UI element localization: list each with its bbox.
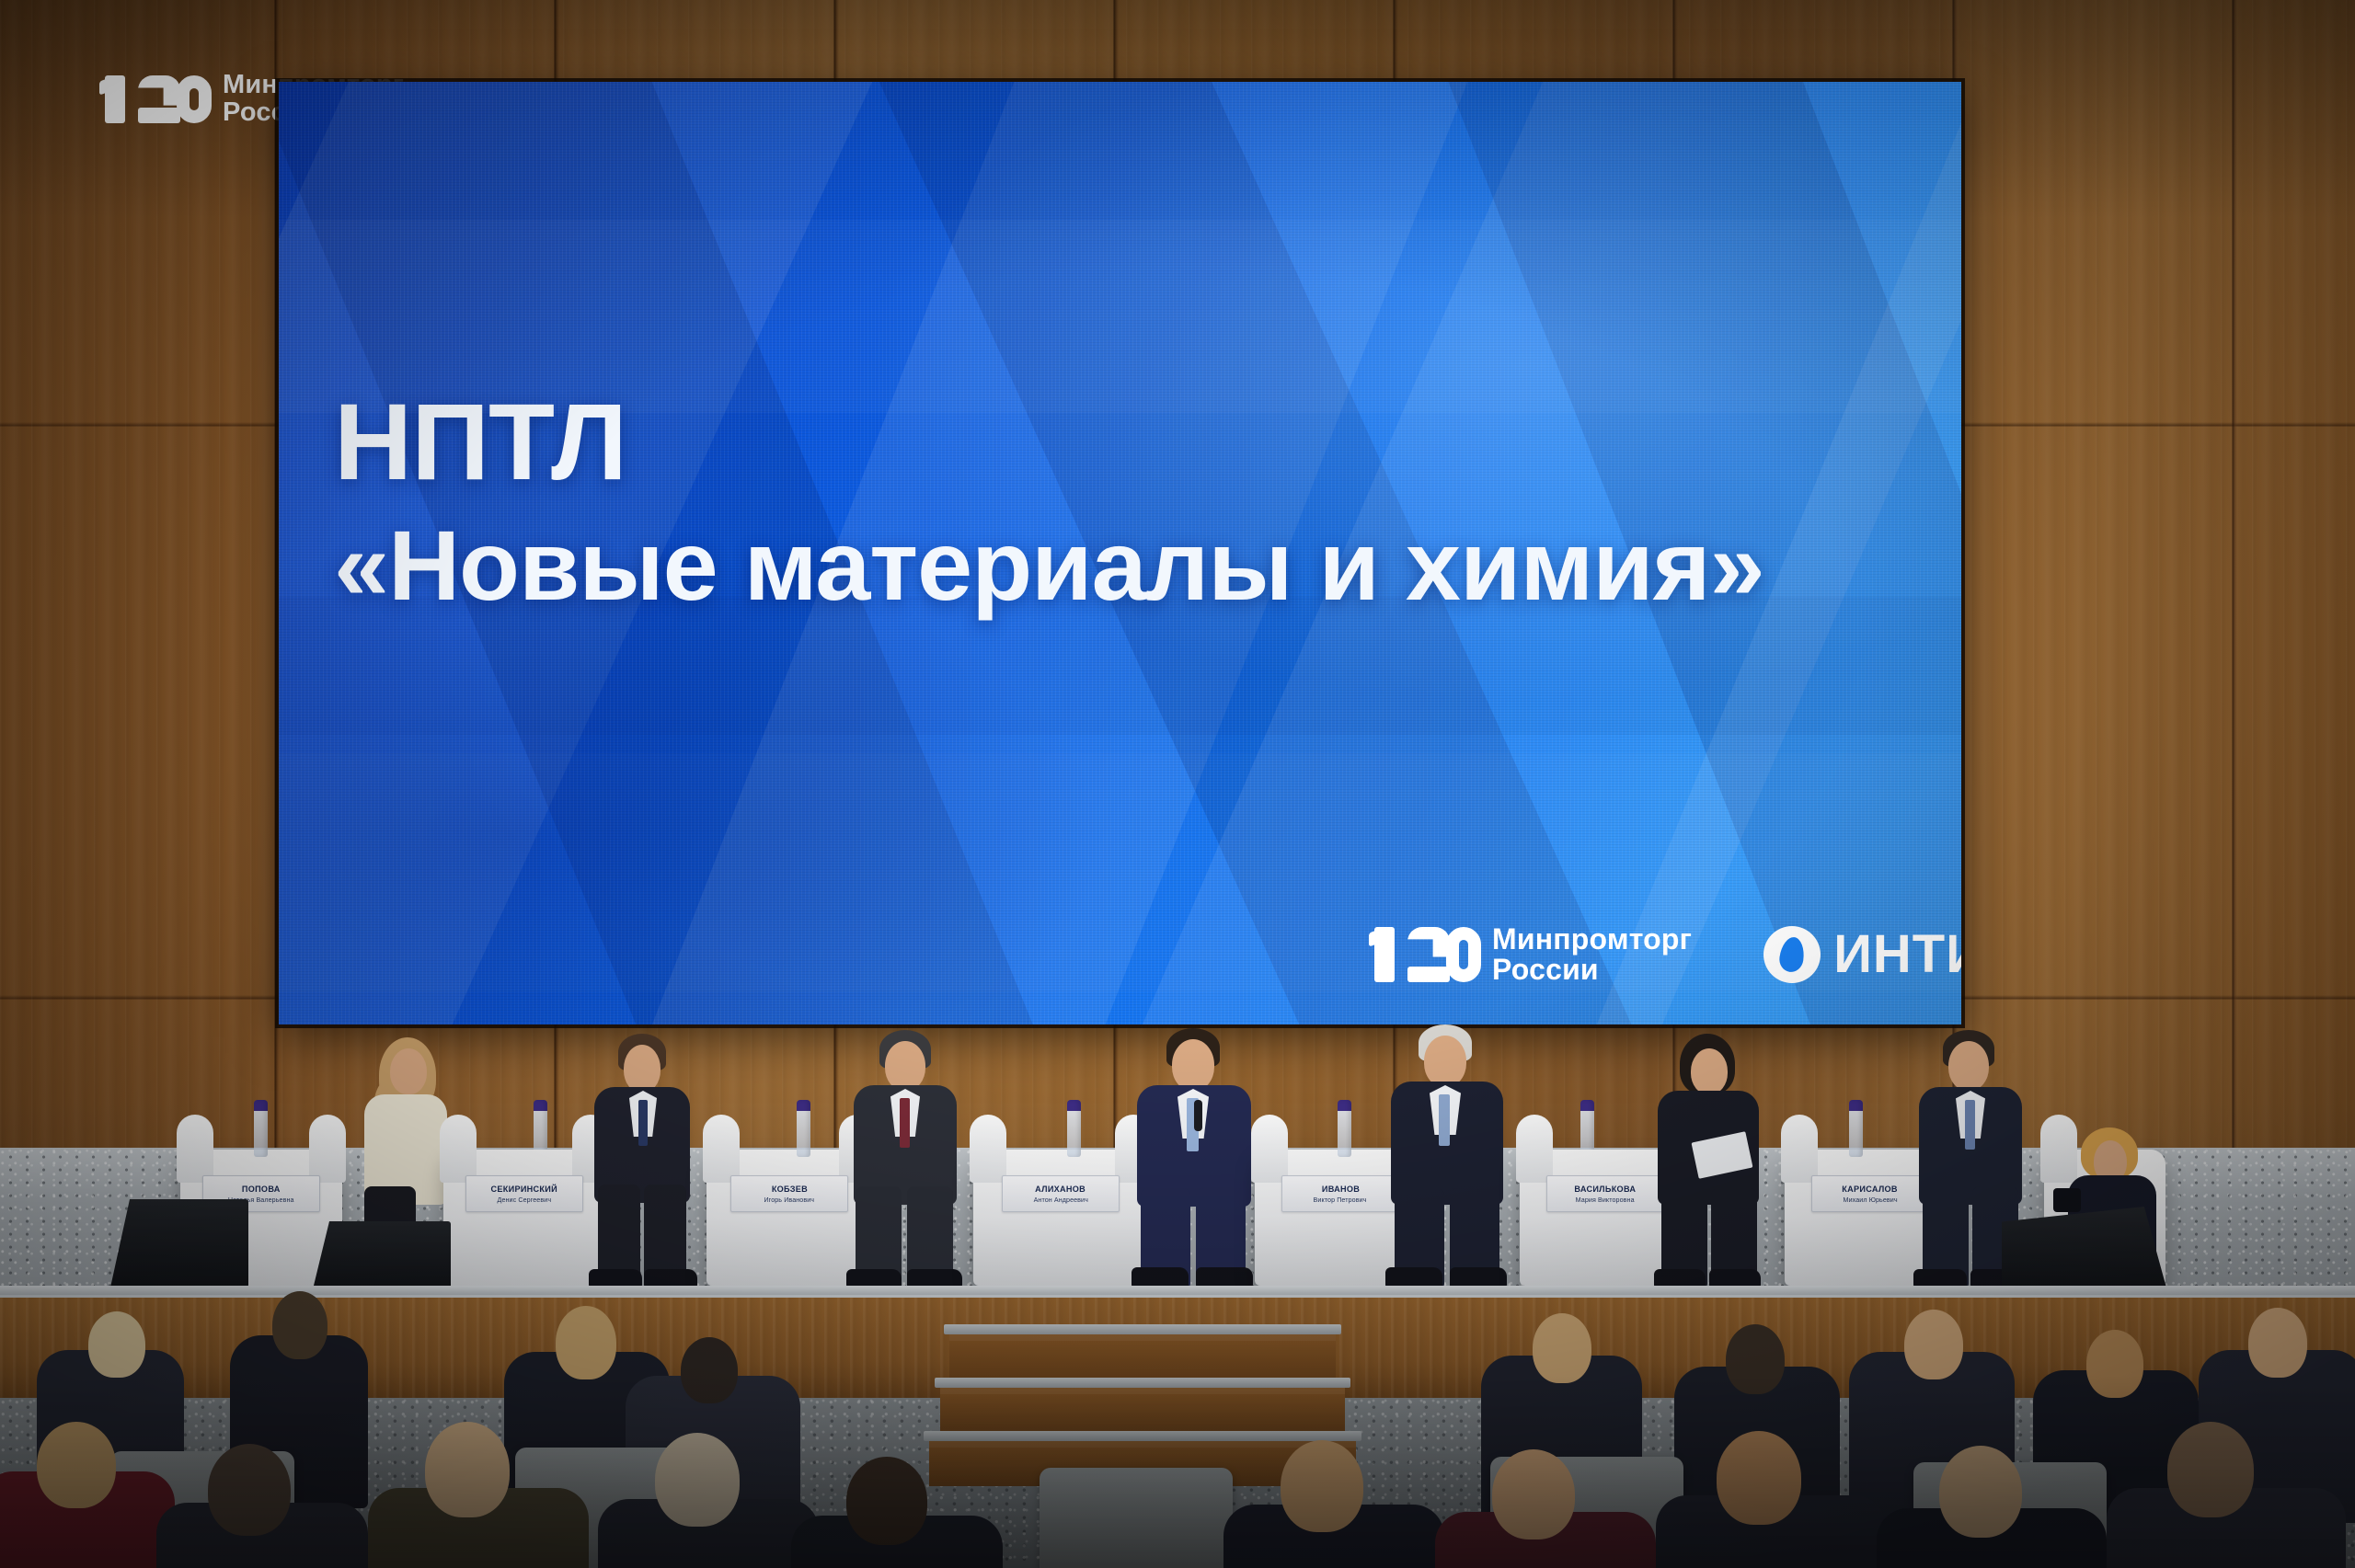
- screen-logo-120-mark: [1369, 927, 1481, 982]
- screen-title-line1: НПТЛ: [334, 385, 1764, 500]
- audience-member: [1281, 1440, 1363, 1532]
- audience-member: [1726, 1324, 1785, 1394]
- water-bottle-4: [1067, 1100, 1081, 1157]
- audience-member: [1904, 1310, 1963, 1379]
- step-2: [940, 1378, 1345, 1431]
- audience-member: [37, 1422, 116, 1508]
- screen-logo-text: Минпромторг России: [1492, 924, 1692, 984]
- audience-member: [2086, 1330, 2143, 1398]
- inti-wordmark: ИНТИ: [1833, 923, 1961, 985]
- microphone-icon: [1194, 1100, 1202, 1131]
- step-1: [949, 1324, 1336, 1378]
- audience-member: [88, 1311, 145, 1378]
- audience-member: [655, 1433, 740, 1527]
- audience-member: [2167, 1422, 2254, 1517]
- screen-inti-logo: ИНТИ: [1763, 923, 1961, 985]
- water-bottle-2: [534, 1100, 547, 1157]
- led-presentation-screen: НПТЛ «Новые материалы и химия» Минпромто…: [279, 82, 1961, 1024]
- audience-member: [1939, 1446, 2022, 1538]
- water-bottle-5: [1338, 1100, 1351, 1157]
- audience-seat: [1040, 1468, 1233, 1568]
- panel-chair-4: АЛИХАНОВ Антон Андреевич: [973, 1150, 1148, 1286]
- stage-monitor-left: [313, 1221, 451, 1289]
- screen-title-block: НПТЛ «Новые материалы и химия»: [334, 385, 1764, 619]
- water-bottle-7: [1849, 1100, 1863, 1157]
- screen-title-line2: «Новые материалы и химия»: [334, 513, 1764, 618]
- water-bottle-3: [797, 1100, 810, 1157]
- audience-member: [2248, 1308, 2307, 1378]
- screen-logo-row: Минпромторг России ИНТИ: [1369, 923, 1961, 985]
- audience-member: [208, 1444, 291, 1536]
- panel-chair-3: КОБЗЕВ Игорь Иванович: [706, 1150, 872, 1286]
- audience-member: [681, 1337, 738, 1403]
- droplet-icon: [1763, 926, 1821, 983]
- nameplate-6: ВАСИЛЬКОВА Мария Викторовна: [1546, 1175, 1664, 1212]
- conference-hall-photo: Минпромторг России НПТЛ «Новые материалы…: [0, 0, 2355, 1568]
- water-bottle-1: [254, 1100, 268, 1157]
- camera-phone-icon: [2053, 1188, 2081, 1212]
- logo-120-mark: [99, 75, 212, 123]
- audience-member: [1492, 1449, 1575, 1539]
- audience-member: [1533, 1313, 1591, 1383]
- audience-member: [846, 1457, 927, 1545]
- nameplate-3: КОБЗЕВ Игорь Иванович: [730, 1175, 848, 1212]
- audience-member: [425, 1422, 510, 1517]
- audience-member: [556, 1306, 616, 1379]
- nameplate-4: АЛИХАНОВ Антон Андреевич: [1002, 1175, 1120, 1212]
- nameplate-5: ИВАНОВ Виктор Петрович: [1281, 1175, 1399, 1212]
- audience-member: [1717, 1431, 1801, 1525]
- nameplate-7: КАРИСАЛОВ Михаил Юрьевич: [1811, 1175, 1929, 1212]
- nameplate-2: СЕКИРИНСКИЙ Денис Сергеевич: [465, 1175, 583, 1212]
- panel-chair-2: СЕКИРИНСКИЙ Денис Сергеевич: [443, 1150, 605, 1286]
- stage-monitor-right: [2002, 1207, 2167, 1291]
- audience-member: [272, 1291, 327, 1359]
- stage-monitor-left-2: [110, 1199, 248, 1288]
- water-bottle-6: [1580, 1100, 1594, 1157]
- screen-minpromtorg-logo: Минпромторг России: [1369, 924, 1692, 984]
